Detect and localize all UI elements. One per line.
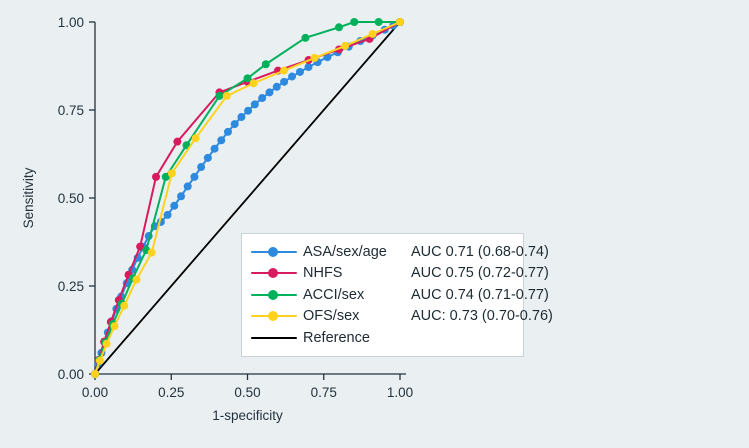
x-tick-label: 0.00 bbox=[82, 385, 108, 400]
series-marker bbox=[190, 173, 198, 181]
y-axis-title: Sensitivity bbox=[21, 167, 36, 228]
series-marker bbox=[103, 340, 111, 348]
series-marker bbox=[369, 30, 377, 38]
series-marker bbox=[250, 79, 258, 87]
roc-chart-figure: 0.000.250.500.751.000.000.250.500.751.00… bbox=[0, 0, 749, 448]
series-marker bbox=[280, 67, 288, 75]
series-marker bbox=[204, 154, 212, 162]
series-marker bbox=[265, 88, 273, 96]
y-tick-label: 0.00 bbox=[58, 367, 84, 382]
series-marker bbox=[120, 302, 128, 310]
series-marker bbox=[350, 18, 358, 26]
legend-item-reference: Reference bbox=[251, 327, 515, 349]
series-marker bbox=[177, 192, 185, 200]
legend-item-ofs-sex: OFS/sex AUC: 0.73 (0.70-0.76) bbox=[251, 306, 515, 328]
series-marker bbox=[288, 73, 296, 81]
series-marker bbox=[396, 18, 404, 26]
legend-key-reference-icon bbox=[251, 331, 297, 345]
series-marker bbox=[217, 136, 225, 144]
series-marker bbox=[244, 107, 252, 115]
legend-label-asa-sex-age: ASA/sex/age bbox=[303, 244, 411, 260]
series-marker bbox=[301, 34, 309, 42]
legend-key-ofs-sex-icon bbox=[251, 309, 297, 323]
legend-label-reference: Reference bbox=[303, 330, 411, 346]
series-marker bbox=[96, 357, 104, 365]
legend-key-asa-sex-age-icon bbox=[251, 245, 297, 259]
y-tick-label: 1.00 bbox=[58, 15, 84, 30]
series-marker bbox=[258, 94, 266, 102]
x-axis-title: 1-specificity bbox=[212, 408, 283, 423]
legend-item-asa-sex-age: ASA/sex/age AUC 0.71 (0.68-0.74) bbox=[251, 241, 515, 263]
series-marker bbox=[184, 182, 192, 190]
legend-label-acci-sex: ACCI/sex bbox=[303, 287, 411, 303]
legend-auc-acci-sex: AUC 0.74 (0.71-0.77) bbox=[411, 287, 549, 303]
legend-auc-asa-sex-age: AUC 0.71 (0.68-0.74) bbox=[411, 244, 549, 260]
series-marker bbox=[111, 322, 119, 330]
series-marker bbox=[280, 78, 288, 86]
series-marker bbox=[305, 63, 313, 71]
series-marker bbox=[197, 163, 205, 171]
series-marker bbox=[341, 42, 349, 50]
series-marker bbox=[311, 54, 319, 62]
series-marker bbox=[164, 211, 172, 219]
series-marker bbox=[152, 173, 160, 181]
legend-auc-ofs-sex: AUC: 0.73 (0.70-0.76) bbox=[411, 308, 553, 324]
x-tick-label: 0.75 bbox=[311, 385, 337, 400]
series-marker bbox=[231, 120, 239, 128]
legend-item-nhfs: NHFS AUC 0.75 (0.72-0.77) bbox=[251, 263, 515, 285]
roc-plot-canvas: 0.000.250.500.751.000.000.250.500.751.00… bbox=[0, 0, 749, 448]
series-marker bbox=[224, 128, 232, 136]
x-tick-label: 0.50 bbox=[234, 385, 260, 400]
series-marker bbox=[132, 276, 140, 284]
legend-label-nhfs: NHFS bbox=[303, 265, 411, 281]
series-marker bbox=[170, 202, 178, 210]
series-marker bbox=[192, 134, 200, 142]
y-tick-label: 0.25 bbox=[58, 279, 84, 294]
x-tick-label: 0.25 bbox=[158, 385, 184, 400]
chart-legend: ASA/sex/age AUC 0.71 (0.68-0.74) NHFS AU… bbox=[241, 233, 524, 357]
series-marker bbox=[273, 83, 281, 91]
series-marker bbox=[173, 138, 181, 146]
legend-auc-nhfs: AUC 0.75 (0.72-0.77) bbox=[411, 265, 549, 281]
legend-key-acci-sex-icon bbox=[251, 288, 297, 302]
series-marker bbox=[211, 145, 219, 153]
series-marker bbox=[335, 23, 343, 31]
series-marker bbox=[215, 92, 223, 100]
series-marker bbox=[262, 60, 270, 68]
legend-item-acci-sex: ACCI/sex AUC 0.74 (0.71-0.77) bbox=[251, 284, 515, 306]
series-marker bbox=[168, 169, 176, 177]
series-marker bbox=[223, 92, 231, 100]
legend-key-nhfs-icon bbox=[251, 266, 297, 280]
series-marker bbox=[237, 113, 245, 121]
series-marker bbox=[375, 18, 383, 26]
y-tick-label: 0.75 bbox=[58, 103, 84, 118]
y-tick-label: 0.50 bbox=[58, 191, 84, 206]
series-marker bbox=[296, 68, 304, 76]
x-tick-label: 1.00 bbox=[387, 385, 413, 400]
series-marker bbox=[148, 249, 156, 257]
legend-label-ofs-sex: OFS/sex bbox=[303, 308, 411, 324]
series-marker bbox=[251, 100, 259, 108]
series-marker bbox=[91, 370, 99, 378]
